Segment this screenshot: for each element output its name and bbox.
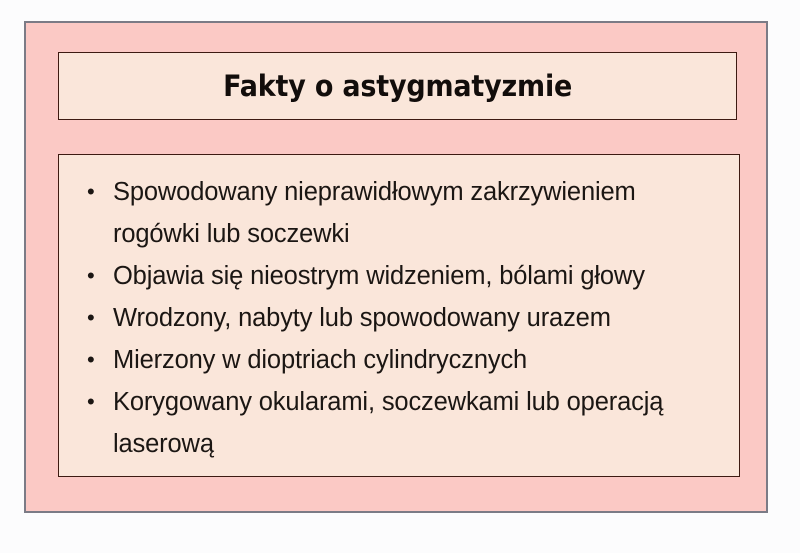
list-item-text: Mierzony w dioptriach cylindrycznych xyxy=(113,339,725,381)
bullet-icon: • xyxy=(87,339,115,381)
slide-panel: Fakty o astygmatyzmie • Spowodowany niep… xyxy=(24,21,768,513)
list-item-text: Korygowany okularami, soczewkami lub ope… xyxy=(113,381,725,465)
bullet-icon: • xyxy=(87,297,115,339)
slide-canvas: Fakty o astygmatyzmie • Spowodowany niep… xyxy=(0,0,800,553)
bullet-icon: • xyxy=(87,255,115,297)
list-item-text: Wrodzony, nabyty lub spowodowany urazem xyxy=(113,297,725,339)
list-item-text: Spowodowany nieprawidłowym zakrzywieniem… xyxy=(113,171,725,255)
bullet-icon: • xyxy=(87,171,115,213)
list-item: • Spowodowany nieprawidłowym zakrzywieni… xyxy=(85,171,725,255)
page-title: Fakty o astygmatyzmie xyxy=(223,72,572,101)
list-item: • Korygowany okularami, soczewkami lub o… xyxy=(85,381,725,465)
list-item: • Wrodzony, nabyty lub spowodowany uraze… xyxy=(85,297,725,339)
facts-content-box: • Spowodowany nieprawidłowym zakrzywieni… xyxy=(58,154,740,477)
list-item: • Objawia się nieostrym widzeniem, bólam… xyxy=(85,255,725,297)
bullet-icon: • xyxy=(87,381,115,423)
list-item: • Mierzony w dioptriach cylindrycznych xyxy=(85,339,725,381)
facts-list: • Spowodowany nieprawidłowym zakrzywieni… xyxy=(59,155,739,465)
title-box: Fakty o astygmatyzmie xyxy=(58,52,737,120)
list-item-text: Objawia się nieostrym widzeniem, bólami … xyxy=(113,255,725,297)
